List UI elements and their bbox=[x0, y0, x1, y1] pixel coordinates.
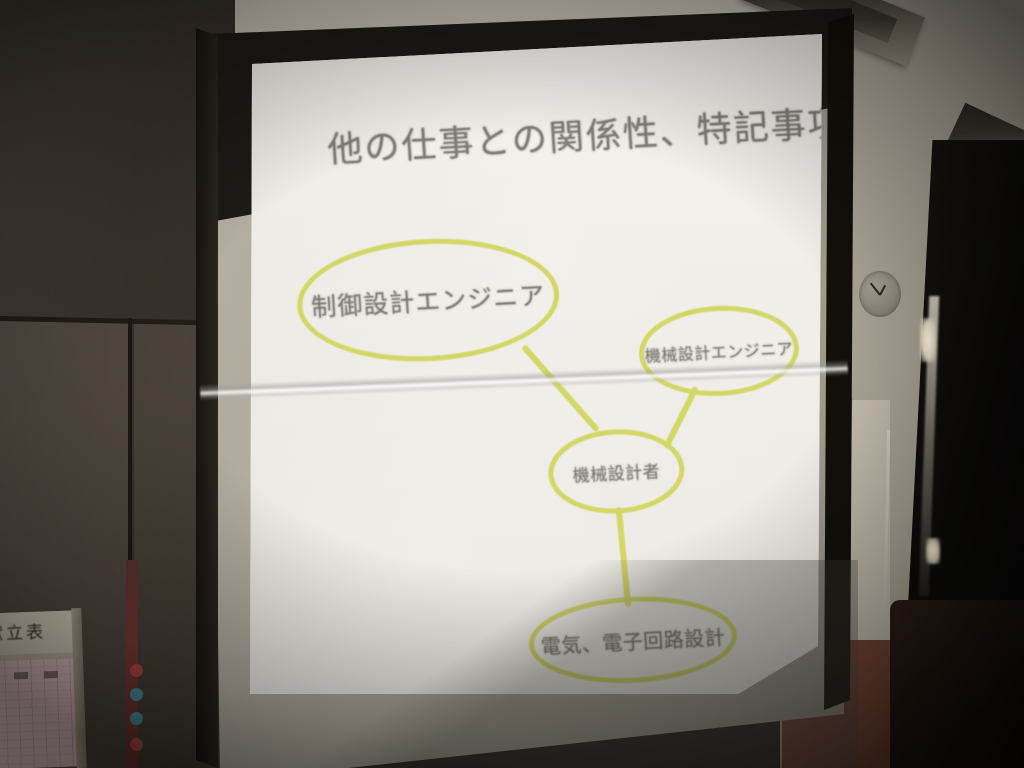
diagram-node-label: 機械設計者 bbox=[572, 457, 661, 487]
slide-title: 他の仕事との関係性、特記事項 bbox=[326, 100, 749, 173]
projection-screen: 他の仕事との関係性、特記事項 制御設計エンジニア 機械設計エンジニア 機械設計者… bbox=[0, 0, 1024, 768]
link-designer-to-circuit bbox=[616, 507, 632, 607]
link-control-to-designer bbox=[521, 344, 600, 432]
diagram-node-label: 制御設計エンジニア bbox=[310, 276, 546, 324]
diagram-node-label: 機械設計エンジニア bbox=[644, 335, 794, 367]
photo-scene: 献立表 他の仕事との関係性、特記事項 制御設計エンジニア bbox=[0, 0, 1024, 768]
diagram-node-electrical-circuit-design: 電気、電子回路設計 bbox=[526, 591, 739, 688]
diagram-node-label: 電気、電子回路設計 bbox=[540, 620, 726, 659]
link-mecheng-to-designer bbox=[663, 386, 699, 449]
projected-slide: 他の仕事との関係性、特記事項 制御設計エンジニア 機械設計エンジニア 機械設計者… bbox=[218, 34, 832, 724]
diagram-node-mechanical-design-engineer: 機械設計エンジニア bbox=[636, 302, 801, 400]
slide-content: 他の仕事との関係性、特記事項 制御設計エンジニア 機械設計エンジニア 機械設計者… bbox=[218, 34, 832, 724]
screen-left-border bbox=[196, 20, 218, 768]
